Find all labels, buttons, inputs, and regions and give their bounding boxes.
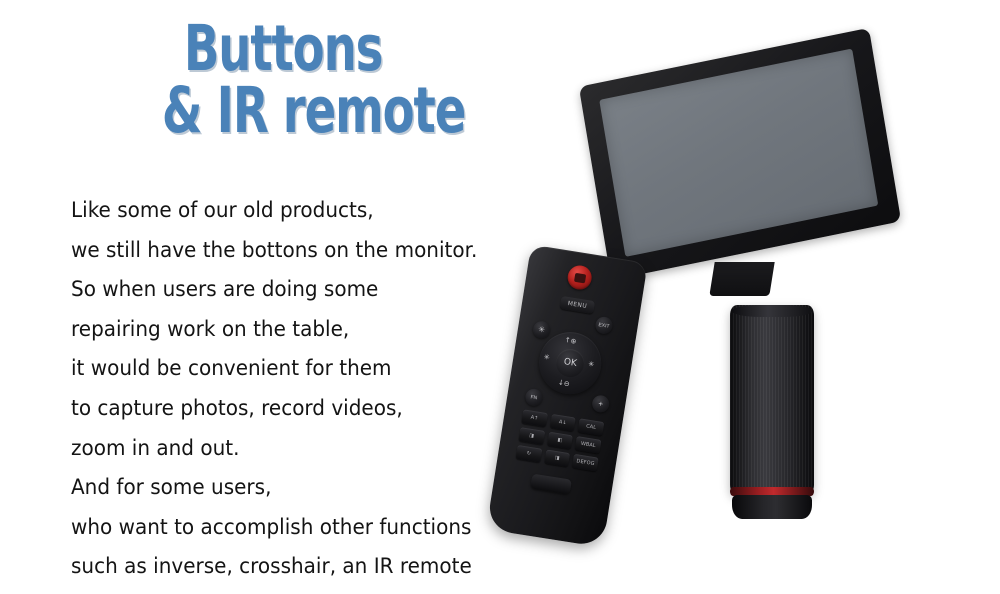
lens-top-cap [732,305,812,317]
body-line: Like some of our old products, [71,191,517,231]
body-line: would be more suitable and helpful. [71,587,517,594]
power-icon [574,272,586,283]
body-line: to capture photos, record videos, [71,389,517,429]
camera-lens-barrel [730,305,814,517]
monitor-screen [599,49,878,257]
lcd-monitor [592,56,892,296]
lens-bottom-cap [732,495,812,519]
body-line: it would be convenient for them [71,349,517,389]
body-line: zoom in and out. [71,429,517,469]
remote-key-wbal[interactable]: WBAL [575,436,602,454]
body-line: we still have the bottons on the monitor… [71,231,517,271]
slide-canvas: Buttons & IR remote Like some of our old… [0,0,1000,594]
remote-key-cal[interactable]: CAL [578,418,605,436]
zoom-in-icon[interactable]: ↑⊕ [564,336,577,346]
monitor-neck [709,262,774,296]
page-title-line-1: Buttons [125,18,480,80]
body-line: So when users are doing some [71,270,517,310]
body-line: such as inverse, crosshair, an IR remote [71,547,517,587]
remote-ok-button[interactable]: OK [554,347,586,379]
body-line: And for some users, [71,468,517,508]
brightness-up-icon[interactable]: ✳ [588,360,595,369]
monitor-bezel [579,28,901,280]
page-title: Buttons & IR remote [0,18,480,143]
page-title-line-2: & IR remote [125,80,480,142]
lens-barrel-ribbed [730,305,814,495]
zoom-out-icon[interactable]: ↓⊖ [557,378,570,388]
body-line: who want to accomplish other functions [71,508,517,548]
body-text: Like some of our old products, we still … [71,191,551,594]
body-line: repairing work on the table, [71,310,517,350]
remote-key-a2[interactable]: A↓ [549,414,576,432]
